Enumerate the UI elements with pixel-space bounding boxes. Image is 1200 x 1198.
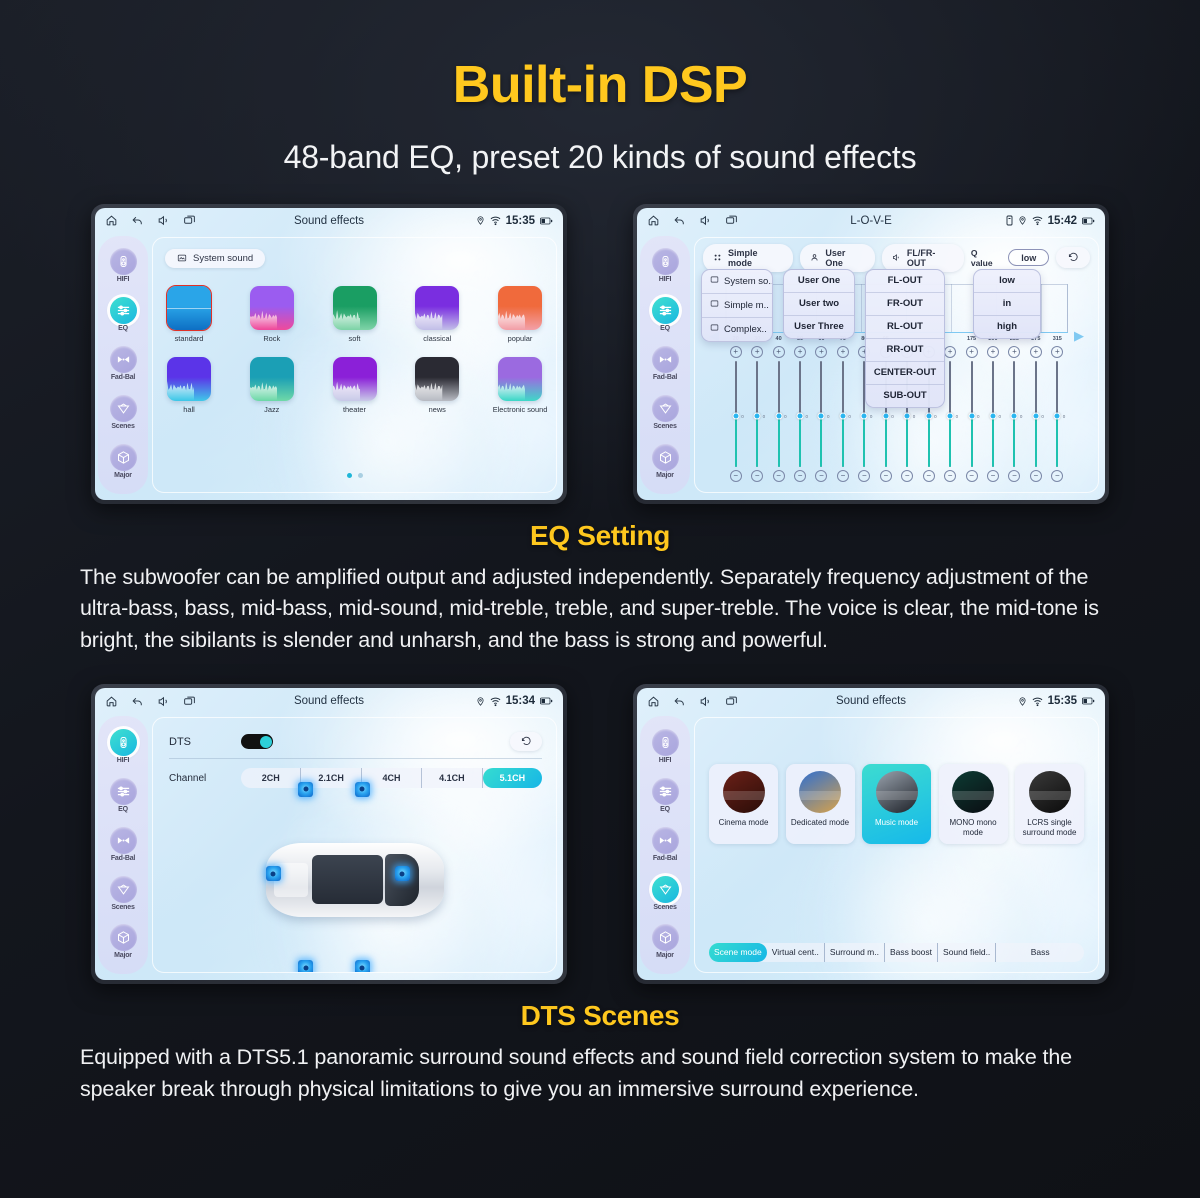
back-icon[interactable] (673, 695, 686, 708)
status-bar: Sound effects 15:35 (95, 208, 563, 234)
band-fill (949, 416, 951, 467)
recents-icon[interactable] (183, 695, 196, 708)
preset-row-2: hallJazztheaternewsElectronic sound (163, 357, 546, 414)
scene-tab[interactable]: Scene mode (709, 943, 767, 962)
channel-option[interactable]: 4CH (362, 768, 422, 788)
volume-icon[interactable] (699, 695, 712, 708)
eq-band-column[interactable]: +0− (1025, 346, 1046, 482)
sidebar-nav: HIFI EQ Fad-Bal (98, 716, 148, 974)
preset-item[interactable]: theater (329, 357, 381, 414)
eq-band-column[interactable]: +0− (789, 346, 810, 482)
band-track[interactable]: 0 (735, 361, 737, 467)
scroll-right-arrow[interactable]: ▶ (1074, 328, 1084, 344)
band-track[interactable]: 0 (756, 361, 758, 467)
sidebar-label: Major (656, 952, 674, 959)
sidebar-label: Fad-Bal (653, 374, 677, 381)
eq-band-column[interactable]: +0− (1047, 346, 1068, 482)
location-icon (1018, 696, 1027, 707)
preset-thumbnail[interactable] (498, 286, 542, 330)
preset-label: standard (175, 334, 204, 343)
minus-icon[interactable]: − (751, 470, 763, 482)
preset-item[interactable]: Rock (246, 286, 298, 343)
channel-option[interactable]: 5.1CH (483, 768, 542, 788)
preset-thumbnail[interactable] (415, 286, 459, 330)
band-knob[interactable] (818, 412, 825, 419)
preset-thumbnail[interactable] (167, 357, 211, 401)
scene-mode-label: Cinema mode (719, 818, 769, 828)
band-fill (971, 416, 973, 467)
dropdown-item-label: User Three (794, 321, 844, 332)
sim-icon (1006, 215, 1013, 226)
dropdown-item[interactable]: SUB-OUT (866, 385, 944, 407)
page-dot[interactable] (358, 473, 363, 478)
scene-mode-card[interactable]: MONO mono mode (939, 764, 1008, 844)
band-fill (885, 416, 887, 467)
plus-icon[interactable]: + (1030, 346, 1042, 358)
section-title-dts: DTS Scenes (0, 1000, 1200, 1032)
scene-tab[interactable]: Virtual cent.. (767, 943, 825, 962)
status-bar: L-O-V-E 15:42 (637, 208, 1105, 234)
volume-icon[interactable] (157, 695, 170, 708)
dropdown-item[interactable]: Simple m.. (702, 294, 772, 318)
equalizer-sliders-icon (652, 778, 679, 805)
dropdown-item-label: RL-OUT (887, 321, 923, 332)
sidebar-item-fad-bal[interactable]: Fad-Bal (110, 346, 137, 381)
wifi-icon (490, 696, 501, 707)
scene-mode-thumbnail (952, 771, 994, 813)
preset-thumbnail[interactable] (167, 286, 211, 330)
band-track[interactable]: 0 (1013, 361, 1015, 467)
sidebar-label: Scenes (653, 423, 676, 430)
preset-thumbnail[interactable] (250, 357, 294, 401)
band-knob[interactable] (968, 412, 975, 419)
band-value: 0 (934, 414, 937, 419)
scene-mode-list: Cinema modeDedicated modeMusic modeMONO … (709, 764, 1084, 844)
major-cube-icon (652, 444, 679, 471)
car-speaker-diagram (153, 792, 556, 968)
band-value: 0 (848, 414, 851, 419)
hero-header: Built-in DSP 48-band EQ, preset 20 kinds… (0, 0, 1200, 176)
preset-item[interactable]: classical (411, 286, 463, 343)
speaker-rear-right[interactable] (355, 960, 370, 973)
dropdown-item[interactable]: User two (784, 293, 854, 316)
status-bar: Sound effects 15:34 (95, 688, 563, 714)
plus-icon[interactable]: + (751, 346, 763, 358)
dropdown-user[interactable]: User OneUser twoUser Three (783, 269, 855, 339)
minus-icon[interactable]: − (901, 470, 913, 482)
sidebar-label: HIFI (117, 757, 129, 764)
status-time: 15:42 (1048, 215, 1077, 227)
plus-icon[interactable]: + (837, 346, 849, 358)
minus-icon[interactable]: − (966, 470, 978, 482)
dropdown-item[interactable]: User One (784, 270, 854, 293)
plus-icon[interactable]: + (944, 346, 956, 358)
band-knob[interactable] (882, 412, 889, 419)
home-icon[interactable] (105, 214, 118, 227)
band-knob[interactable] (861, 412, 868, 419)
scene-tab[interactable]: Surround m.. (825, 943, 885, 962)
sidebar-item-scenes[interactable]: Scenes (110, 395, 137, 430)
preset-label: theater (343, 405, 366, 414)
sidebar-item-scenes[interactable]: Scenes (110, 876, 137, 911)
dropdown-item-label: User two (799, 298, 839, 309)
band-track[interactable]: 0 (799, 361, 801, 467)
dts-content: DTS Channel 2CH2.1CH4CH4.1CH5.1CH (152, 717, 557, 973)
dropdown-item-label: Complex.. (724, 324, 767, 335)
page-title: Built-in DSP (0, 58, 1200, 113)
band-fill (778, 416, 780, 467)
sidebar-label: Scenes (653, 904, 676, 911)
band-value: 0 (977, 414, 980, 419)
dropdown-output[interactable]: FL-OUTFR-OUTRL-OUTRR-OUTCENTER-OUTSUB-OU… (865, 269, 945, 408)
battery-icon (1082, 696, 1095, 706)
preset-item[interactable]: news (411, 357, 463, 414)
band-knob[interactable] (754, 412, 761, 419)
band-track[interactable]: 0 (842, 361, 844, 467)
chip-label: FL/FR-OUT (907, 248, 954, 268)
dropdown-item-label: CENTER-OUT (874, 367, 936, 378)
preset-item[interactable]: Jazz (246, 357, 298, 414)
chip-label: System sound (193, 253, 253, 264)
back-icon[interactable] (673, 214, 686, 227)
minus-icon[interactable]: − (1051, 470, 1063, 482)
device-screen-scenes: Sound effects 15:35 HIFI (633, 684, 1109, 984)
band-value: 0 (741, 414, 744, 419)
system-sound-chip[interactable]: System sound (165, 249, 265, 268)
screens-row-eq: Sound effects 15:35 HIFI (0, 204, 1200, 504)
band-knob[interactable] (989, 412, 996, 419)
home-icon[interactable] (105, 695, 118, 708)
user-chip[interactable]: User One (800, 244, 875, 272)
speaker-side-left[interactable] (266, 866, 281, 881)
dropdown-item[interactable]: FL-OUT (866, 270, 944, 293)
minus-icon[interactable]: − (1008, 470, 1020, 482)
band-knob[interactable] (1032, 412, 1039, 419)
scene-mode-label: LCRS single surround mode (1019, 818, 1080, 838)
recents-icon[interactable] (183, 214, 196, 227)
band-knob[interactable] (1054, 412, 1061, 419)
band-knob[interactable] (797, 412, 804, 419)
eq-band-column[interactable]: +0− (725, 346, 746, 482)
channel-option[interactable]: 4.1CH (422, 768, 482, 788)
sidebar-item-fad-bal[interactable]: Fad-Bal (652, 346, 679, 381)
band-track[interactable]: 0 (949, 361, 951, 467)
chip-label: User One (825, 248, 865, 268)
wifi-icon (490, 215, 501, 226)
band-knob[interactable] (775, 412, 782, 419)
eq-band-column[interactable]: +0− (746, 346, 767, 482)
preset-item[interactable]: soft (329, 286, 381, 343)
scene-tab[interactable]: Bass (996, 943, 1084, 962)
sidebar-label: Major (114, 952, 132, 959)
sidebar-item-major[interactable]: Major (110, 924, 137, 959)
scene-mode-label: MONO mono mode (943, 818, 1004, 838)
section-body-dts: Equipped with a DTS5.1 panoramic surroun… (80, 1042, 1120, 1105)
sidebar-label: Scenes (111, 423, 134, 430)
plus-icon[interactable]: + (815, 346, 827, 358)
scene-tab[interactable]: Bass boost (885, 943, 938, 962)
plus-icon[interactable]: + (987, 346, 999, 358)
eq-band-column[interactable]: +0− (832, 346, 853, 482)
minus-icon[interactable]: − (923, 470, 935, 482)
wifi-icon (1032, 215, 1043, 226)
minus-icon[interactable]: − (880, 470, 892, 482)
scenes-diamond-icon (110, 876, 137, 903)
sidebar-nav: HIFI EQ Fad-Bal (640, 716, 690, 974)
reset-button[interactable] (510, 732, 542, 751)
dropdown-item[interactable]: System so.. (702, 270, 772, 294)
speaker-side-right[interactable] (395, 866, 410, 881)
chip-label: Simple mode (728, 248, 783, 268)
dts-label: DTS (169, 736, 241, 748)
major-cube-icon (110, 444, 137, 471)
scene-mode-label: Dedicated mode (791, 818, 849, 828)
battery-icon (1082, 216, 1095, 226)
dropdown-item[interactable]: CENTER-OUT (866, 362, 944, 385)
sidebar-item-eq[interactable]: EQ (110, 297, 137, 332)
scene-mode-card[interactable]: Cinema mode (709, 764, 778, 844)
dropdown-item-icon (710, 299, 719, 311)
divider (169, 758, 542, 759)
band-fill (842, 416, 844, 467)
eq-band-column[interactable]: +0− (811, 346, 832, 482)
plus-icon[interactable]: + (730, 346, 742, 358)
minus-icon[interactable]: − (1030, 470, 1042, 482)
sidebar-item-major[interactable]: Major (110, 444, 137, 479)
band-fill (756, 416, 758, 467)
minus-icon[interactable]: − (730, 470, 742, 482)
preset-label: news (429, 405, 446, 414)
preset-item[interactable]: Electronic sound (494, 357, 546, 414)
mode-chip[interactable]: Simple mode (703, 244, 793, 272)
status-time: 15:34 (506, 695, 535, 707)
band-value: 0 (1063, 414, 1066, 419)
reset-history-icon (521, 736, 532, 747)
sidebar-item-scenes[interactable]: Scenes (652, 395, 679, 430)
band-knob[interactable] (1011, 412, 1018, 419)
speaker-out-icon (892, 253, 901, 262)
scene-mode-thumbnail (876, 771, 918, 813)
preset-item[interactable]: hall (163, 357, 215, 414)
screens-row-dts: Sound effects 15:34 HIFI (0, 684, 1200, 984)
recents-icon[interactable] (725, 695, 738, 708)
sidebar-label: HIFI (659, 276, 671, 283)
plus-icon[interactable]: + (1051, 346, 1063, 358)
preset-item[interactable]: standard (163, 286, 215, 343)
sidebar-item-eq[interactable]: EQ (652, 297, 679, 332)
equalizer-sliders-icon (110, 778, 137, 805)
speaker-front-right[interactable] (355, 782, 370, 797)
sidebar-item-hifi[interactable]: HIFI (652, 248, 679, 283)
sidebar-item-hifi[interactable]: HIFI (110, 248, 137, 283)
volume-icon[interactable] (699, 214, 712, 227)
minus-icon[interactable]: − (773, 470, 785, 482)
scene-mode-thumbnail (1029, 771, 1071, 813)
minus-icon[interactable]: − (837, 470, 849, 482)
band-value: 0 (891, 414, 894, 419)
preset-thumbnail[interactable] (333, 286, 377, 330)
sidebar-item-fad-bal[interactable]: Fad-Bal (110, 827, 137, 862)
dropdown-qvalue[interactable]: lowinhigh (973, 269, 1041, 339)
band-track[interactable]: 0 (992, 361, 994, 467)
dropdown-item-icon (710, 323, 719, 335)
band-knob[interactable] (839, 412, 846, 419)
eq-band-column[interactable]: +0− (1004, 346, 1025, 482)
scene-tabbar: Scene modeVirtual cent..Surround m..Bass… (709, 943, 1084, 962)
plus-icon[interactable]: + (794, 346, 806, 358)
scene-mode-thumbnail (723, 771, 765, 813)
band-fill (820, 416, 822, 467)
scene-mode-card[interactable]: Music mode (862, 764, 931, 844)
picture-icon (177, 253, 187, 263)
band-track[interactable]: 0 (820, 361, 822, 467)
dropdown-mode[interactable]: System so..Simple m..Complex.. (701, 269, 773, 342)
scene-mode-card[interactable]: LCRS single surround mode (1015, 764, 1084, 844)
band-value: 0 (784, 414, 787, 419)
eq-band-column[interactable]: +0− (961, 346, 982, 482)
dropdown-item[interactable]: low (974, 270, 1040, 293)
preset-label: classical (423, 334, 451, 343)
reset-history-icon (1068, 252, 1079, 263)
speaker-front-left[interactable] (298, 782, 313, 797)
grid-mode-icon (713, 253, 722, 262)
scenes-content: Cinema modeDedicated modeMusic modeMONO … (694, 717, 1099, 973)
dropdown-item-label: high (997, 321, 1017, 332)
preset-label: Jazz (264, 405, 279, 414)
preset-label: Electronic sound (493, 405, 548, 414)
band-value: 0 (763, 414, 766, 419)
band-value: 0 (913, 414, 916, 419)
sidebar-nav: HIFI EQ Fad-Bal (640, 236, 690, 494)
output-chip[interactable]: FL/FR-OUT (882, 244, 964, 272)
band-knob[interactable] (732, 412, 739, 419)
back-icon[interactable] (131, 695, 144, 708)
reset-button[interactable] (1056, 247, 1090, 268)
band-track[interactable]: 0 (778, 361, 780, 467)
preset-thumbnail[interactable] (250, 286, 294, 330)
dropdown-item[interactable]: Complex.. (702, 318, 772, 341)
equalizer-sliders-icon (110, 297, 137, 324)
dropdown-item[interactable]: RR-OUT (866, 339, 944, 362)
band-fill (799, 416, 801, 467)
home-icon[interactable] (647, 695, 660, 708)
preset-thumbnail[interactable] (333, 357, 377, 401)
dropdown-item-label: low (999, 275, 1015, 286)
q-value-pill[interactable]: low (1008, 249, 1049, 266)
band-track[interactable]: 0 (1056, 361, 1058, 467)
sidebar-label: Major (114, 472, 132, 479)
equalizer-sliders-icon (652, 297, 679, 324)
preset-item[interactable]: popular (494, 286, 546, 343)
hifi-speaker-icon (652, 729, 679, 756)
band-knob[interactable] (925, 412, 932, 419)
dropdown-item[interactable]: FR-OUT (866, 293, 944, 316)
dropdown-item-icon (710, 275, 719, 287)
sidebar-nav: HIFI EQ Fad-Bal (98, 236, 148, 494)
presets-content: System sound standardRocksoftclassicalpo… (152, 237, 557, 493)
preset-thumbnail[interactable] (498, 357, 542, 401)
dropdown-item-label: RR-OUT (887, 344, 924, 355)
band-knob[interactable] (904, 412, 911, 419)
page-subtitle: 48-band EQ, preset 20 kinds of sound eff… (0, 139, 1200, 176)
minus-icon[interactable]: − (987, 470, 999, 482)
plus-icon[interactable]: + (773, 346, 785, 358)
dts-header-row: DTS (169, 732, 542, 751)
dropdown-item-label: FR-OUT (887, 298, 923, 309)
band-track[interactable]: 0 (971, 361, 973, 467)
page-dot[interactable] (347, 473, 352, 478)
channel-label: Channel (169, 773, 241, 784)
home-icon[interactable] (647, 214, 660, 227)
sidebar-item-eq[interactable]: EQ (652, 778, 679, 813)
scene-mode-card[interactable]: Dedicated mode (786, 764, 855, 844)
channel-option[interactable]: 2CH (241, 768, 301, 788)
sidebar-item-hifi[interactable]: HIFI (110, 729, 137, 764)
dropdown-item-label: FL-OUT (888, 275, 923, 286)
dts-toggle[interactable] (241, 734, 273, 749)
battery-icon (540, 696, 553, 706)
preset-thumbnail[interactable] (415, 357, 459, 401)
location-icon (476, 696, 485, 707)
fader-balance-icon (652, 827, 679, 854)
recents-icon[interactable] (725, 214, 738, 227)
section-title-eq: EQ Setting (0, 520, 1200, 552)
eq-band-column[interactable]: +0− (982, 346, 1003, 482)
fader-balance-icon (652, 346, 679, 373)
minus-icon[interactable]: − (815, 470, 827, 482)
fader-balance-icon (110, 827, 137, 854)
band-value: 0 (870, 414, 873, 419)
dropdown-item[interactable]: high (974, 316, 1040, 338)
band-value: 0 (806, 414, 809, 419)
dropdown-item[interactable]: RL-OUT (866, 316, 944, 339)
minus-icon[interactable]: − (944, 470, 956, 482)
dropdown-item[interactable]: User Three (784, 316, 854, 338)
band-fill (992, 416, 994, 467)
scene-tab[interactable]: Sound field.. (938, 943, 996, 962)
hifi-speaker-icon (652, 248, 679, 275)
preset-grid: standardRocksoftclassicalpopular hallJaz… (163, 286, 546, 428)
band-knob[interactable] (947, 412, 954, 419)
major-cube-icon (652, 924, 679, 951)
scenes-diamond-icon (652, 876, 679, 903)
sidebar-item-scenes[interactable]: Scenes (652, 876, 679, 911)
minus-icon[interactable]: − (794, 470, 806, 482)
band-fill (928, 416, 930, 467)
dropdown-item[interactable]: in (974, 293, 1040, 316)
sidebar-item-major[interactable]: Major (652, 924, 679, 959)
channel-segmented-control: 2CH2.1CH4CH4.1CH5.1CH (241, 768, 542, 788)
minus-icon[interactable]: − (858, 470, 870, 482)
speaker-rear-left[interactable] (298, 960, 313, 973)
plus-icon[interactable]: + (1008, 346, 1020, 358)
sidebar-item-eq[interactable]: EQ (110, 778, 137, 813)
plus-icon[interactable]: + (966, 346, 978, 358)
sidebar-label: HIFI (117, 276, 129, 283)
band-track[interactable]: 0 (1035, 361, 1037, 467)
eq-band-column[interactable]: +0− (768, 346, 789, 482)
sidebar-item-hifi[interactable]: HIFI (652, 729, 679, 764)
sidebar-item-fad-bal[interactable]: Fad-Bal (652, 827, 679, 862)
sidebar-item-major[interactable]: Major (652, 444, 679, 479)
sidebar-label: EQ (118, 325, 128, 332)
back-icon[interactable] (131, 214, 144, 227)
sidebar-label: EQ (660, 806, 670, 813)
band-value: 0 (1020, 414, 1023, 419)
eq-content: Simple mode User One FL/FR-OUT Q value l… (694, 237, 1099, 493)
battery-icon (540, 216, 553, 226)
volume-icon[interactable] (157, 214, 170, 227)
